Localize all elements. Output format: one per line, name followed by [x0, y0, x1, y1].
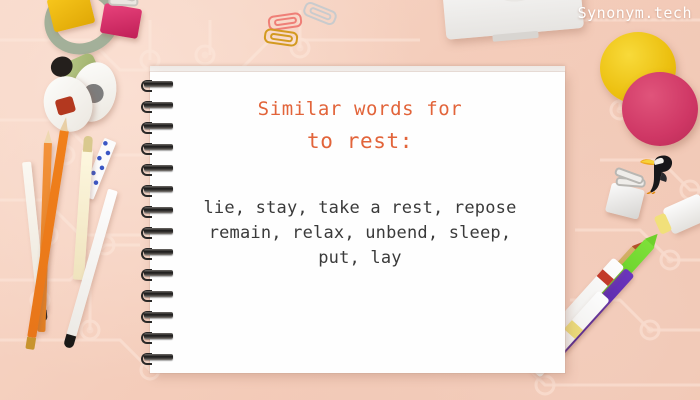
binder-clip-pink: [100, 3, 143, 39]
synonym-list: lie, stay, take a rest, repose remain, r…: [160, 196, 560, 271]
spiral-ring: [141, 353, 175, 362]
spiral-ring: [141, 290, 175, 299]
spiral-ring: [141, 164, 175, 173]
desk-scene: Similar words for to rest: lie, stay, ta…: [0, 0, 700, 400]
spiral-ring: [141, 185, 175, 194]
camera-lens: [480, 0, 549, 4]
synonym-line-2: remain, relax, unbend, sleep,: [160, 221, 560, 246]
toucan-figurine: [638, 150, 678, 194]
spiral-ring: [141, 80, 175, 89]
macaron-pink: [622, 72, 698, 146]
notepad-heading: Similar words for to rest:: [160, 96, 560, 156]
spiral-ring: [141, 311, 175, 320]
synonym-line-3: put, lay: [160, 246, 560, 271]
heading-line-1: Similar words for: [160, 96, 560, 122]
spiral-ring: [141, 332, 175, 341]
synonym-line-1: lie, stay, take a rest, repose: [160, 196, 560, 221]
heading-line-2: to rest:: [160, 126, 560, 156]
watermark-logo: Synonym.tech: [578, 4, 692, 22]
